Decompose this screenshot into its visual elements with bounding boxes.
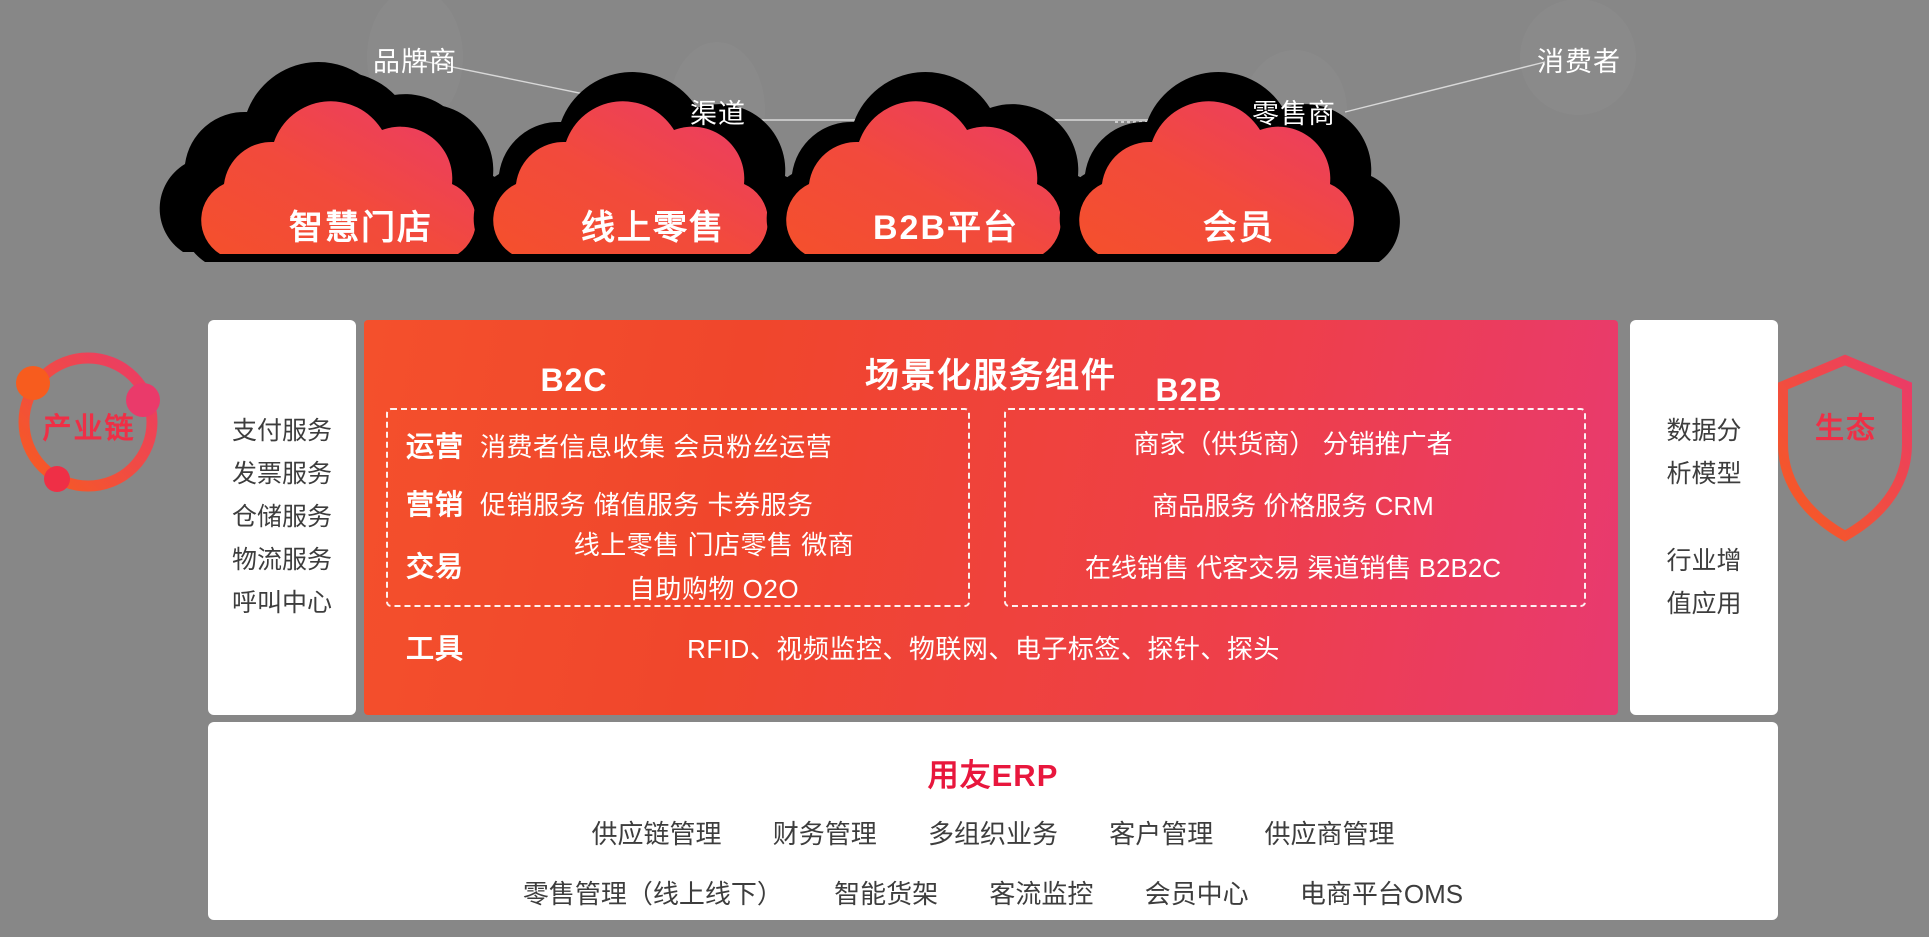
right-service-panel: 数据分 析模型 行业增 值应用 [1630,320,1778,715]
b2c-items-wrap: 线上零售 门店零售 微商 自助购物 O2O [480,525,948,606]
erp-item: 客流监控 [989,879,1093,909]
cloud-label-b2b-platform: B2B平台 [790,200,1102,249]
cloud-label-member: 会员 [1083,200,1395,249]
left-panel-item: 发票服务 [232,453,332,496]
b2b-line: 商品服务 价格服务 CRM [1004,486,1582,523]
erp-title: 用友ERP [208,750,1778,795]
left-service-panel: 支付服务 发票服务 仓储服务 物流服务 呼叫中心 [208,320,356,715]
erp-item: 智能货架 [834,879,938,909]
erp-item: 供应链管理 [591,819,721,849]
b2b-line-3-wrap: 在线销售 代客交易 渠道销售 B2B2C [1004,548,1582,585]
b2c-row-operations: 运营 消费者信息收集 会员粉丝运营 [406,420,958,470]
left-panel-item: 支付服务 [232,410,332,453]
b2c-category: 交易 [406,545,480,585]
tools-items: RFID、视频监控、物联网、电子标签、探针、探头 [496,629,1581,666]
tools-row: 工具 RFID、视频监控、物联网、电子标签、探针、探头 [406,620,1581,674]
b2c-items-sub: 自助购物 O2O [480,569,948,606]
erp-row-1: 供应链管理 财务管理 多组织业务 客户管理 供应商管理 [208,814,1778,851]
top-label-retailer: 零售商 [1233,92,1355,131]
erp-item: 零售管理（线上线下） [523,879,783,909]
b2c-category: 营销 [406,483,480,523]
erp-item: 多组织业务 [928,819,1058,849]
left-panel-item: 物流服务 [232,539,332,582]
erp-item: 电商平台OMS [1300,879,1463,909]
b2b-line-1-wrap: 商家（供货商） 分销推广者 [1004,424,1582,461]
badge-left-label: 产业链 [8,405,170,447]
top-label-channel: 渠道 [672,92,764,131]
b2b-line: 商家（供货商） 分销推广者 [1004,424,1582,461]
tools-category: 工具 [406,627,496,667]
scenario-service-panel: 场景化服务组件 B2C B2B 运营 消费者信息收集 会员粉丝运营 营销 促销服… [364,320,1618,715]
shield-icon [1783,360,1907,536]
top-label-brand: 品牌商 [355,40,475,79]
erp-item: 会员中心 [1145,879,1249,909]
b2b-heading: B2B [1099,372,1279,409]
badge-right-label: 生态 [1765,405,1927,447]
erp-item: 财务管理 [773,819,877,849]
diagram-canvas: 品牌商 渠道 零售商 消费者 智慧门店 线上零售 B2B平台 会员 产业链 生态… [0,0,1929,937]
left-panel-item: 仓储服务 [232,496,332,539]
right-panel-item: 值应用 [1666,583,1741,626]
b2c-heading: B2C [484,362,664,399]
cloud-label-online-retail: 线上零售 [497,200,809,249]
b2c-items: 消费者信息收集 会员粉丝运营 [480,427,832,464]
b2c-category: 运营 [406,425,480,465]
b2c-row-transaction: 交易 线上零售 门店零售 微商 自助购物 O2O [406,530,958,600]
erp-panel: 用友ERP 供应链管理 财务管理 多组织业务 客户管理 供应商管理 零售管理（线… [208,722,1778,920]
b2c-items: 促销服务 储值服务 卡券服务 [480,485,813,522]
connector-retailer-consumer [1345,62,1545,112]
right-panel-item: 行业增 [1666,540,1741,583]
b2b-line-2-wrap: 商品服务 价格服务 CRM [1004,486,1582,523]
b2b-line: 在线销售 代客交易 渠道销售 B2B2C [1004,548,1582,585]
cloud-label-smart-store: 智慧门店 [205,200,517,249]
right-panel-group: 行业增 值应用 [1666,540,1741,626]
right-panel-group: 数据分 析模型 [1666,410,1741,496]
erp-item: 供应商管理 [1264,819,1394,849]
right-panel-item: 数据分 [1666,410,1741,453]
right-panel-item: 析模型 [1666,453,1741,496]
top-label-consumer: 消费者 [1518,40,1640,79]
erp-item: 客户管理 [1109,819,1213,849]
b2c-items: 线上零售 门店零售 微商 [574,530,854,560]
b2c-row-marketing: 营销 促销服务 储值服务 卡券服务 [406,478,958,528]
left-panel-item: 呼叫中心 [232,582,332,625]
erp-row-2: 零售管理（线上线下） 智能货架 客流监控 会员中心 电商平台OMS [208,874,1778,911]
